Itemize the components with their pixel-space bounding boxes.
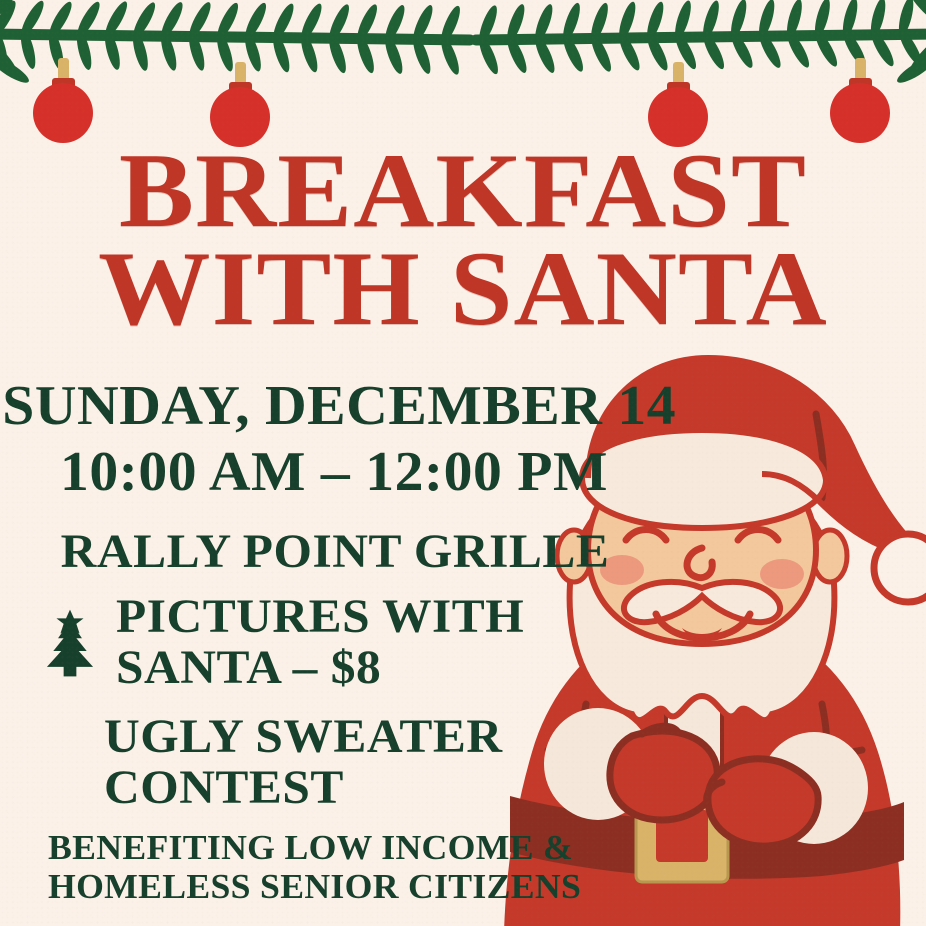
ornament	[33, 58, 93, 143]
contest-line-2: CONTEST	[104, 763, 503, 814]
event-venue: RALLY POINT GRILLE	[0, 528, 670, 576]
ornament	[830, 58, 890, 143]
breakfast-with-santa-flyer: BREAKFAST WITH SANTA SUNDAY, DECEMBER 14…	[0, 0, 926, 926]
page-title: BREAKFAST WITH SANTA	[0, 142, 926, 337]
title-line-1: BREAKFAST	[0, 142, 926, 240]
event-details: SUNDAY, DECEMBER 14 10:00 AM – 12:00 PM …	[0, 378, 660, 576]
contest-line-1: UGLY SWEATER	[104, 712, 503, 763]
santa-cheek-right	[760, 559, 804, 589]
ugly-sweater-contest-item: UGLY SWEATER CONTEST	[104, 712, 503, 814]
event-date: SUNDAY, DECEMBER 14	[2, 378, 669, 434]
pictures-line-1: PICTURES WITH	[116, 592, 524, 643]
pictures-with-santa-item: PICTURES WITH SANTA – $8	[0, 592, 660, 694]
pictures-line-2: SANTA – $8	[116, 643, 524, 694]
benefit-line-2: HOMELESS SENIOR CITIZENS	[48, 867, 581, 906]
benefit-line-1: BENEFITING LOW INCOME &	[48, 828, 581, 867]
santa-hat-pompom	[874, 534, 926, 602]
event-time: 10:00 AM – 12:00 PM	[0, 444, 670, 500]
beneficiary-note: BENEFITING LOW INCOME & HOMELESS SENIOR …	[48, 828, 581, 906]
title-line-2: WITH SANTA	[0, 240, 926, 338]
christmas-tree-icon	[42, 608, 98, 678]
